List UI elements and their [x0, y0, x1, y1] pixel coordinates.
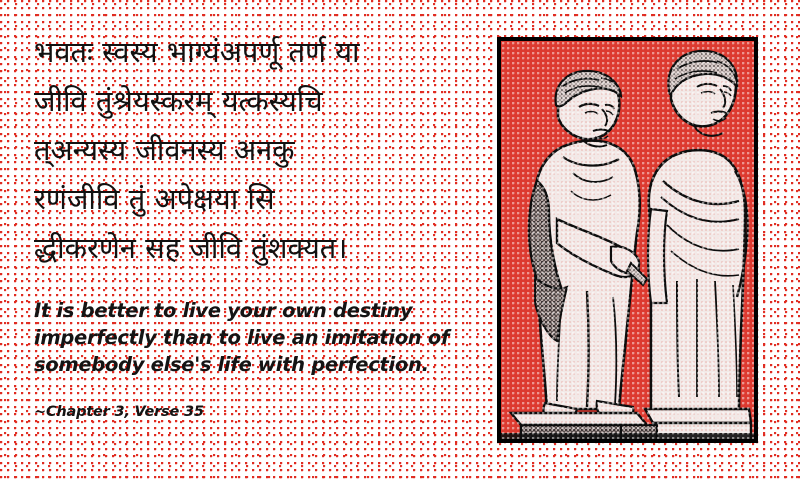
statues-illustration — [501, 41, 754, 439]
quote-card: भवतः स्वस्य भाग्यंअपर्णू तर्ण या जीवि तु… — [0, 0, 800, 480]
verse-line: रणंजीवि तुं अपेक्षया सि — [34, 175, 460, 224]
verse-attribution: ~Chapter 3, Verse 35 — [34, 404, 460, 420]
text-column: भवतः स्वस्य भाग्यंअपर्णू तर्ण या जीवि तु… — [0, 0, 470, 480]
verse-line: द्धीकरणेन सह जीवि तुंशक्यत। — [34, 224, 460, 273]
translation-line: It is better to live your own destiny — [34, 297, 440, 324]
verse-line: त्अन्यस्य जीवनस्य अनकु — [34, 126, 460, 175]
verse-line: जीवि तुंश्रेयस्करम् यत्कस्यचि — [34, 77, 460, 126]
translation-line: somebody else's life with perfection. — [34, 351, 440, 378]
illustration-frame — [497, 37, 758, 443]
verse-line: भवतः स्वस्य भाग्यंअपर्णू तर्ण या — [34, 28, 460, 77]
english-translation: It is better to live your own destiny im… — [34, 297, 440, 378]
translation-line: imperfectly than to live an imitation of — [34, 324, 440, 351]
statue-pedestals — [501, 409, 754, 439]
sanskrit-verse: भवतः स्वस्य भाग्यंअपर्णू तर्ण या जीवि तु… — [34, 28, 460, 273]
statues-artwork — [501, 41, 754, 439]
